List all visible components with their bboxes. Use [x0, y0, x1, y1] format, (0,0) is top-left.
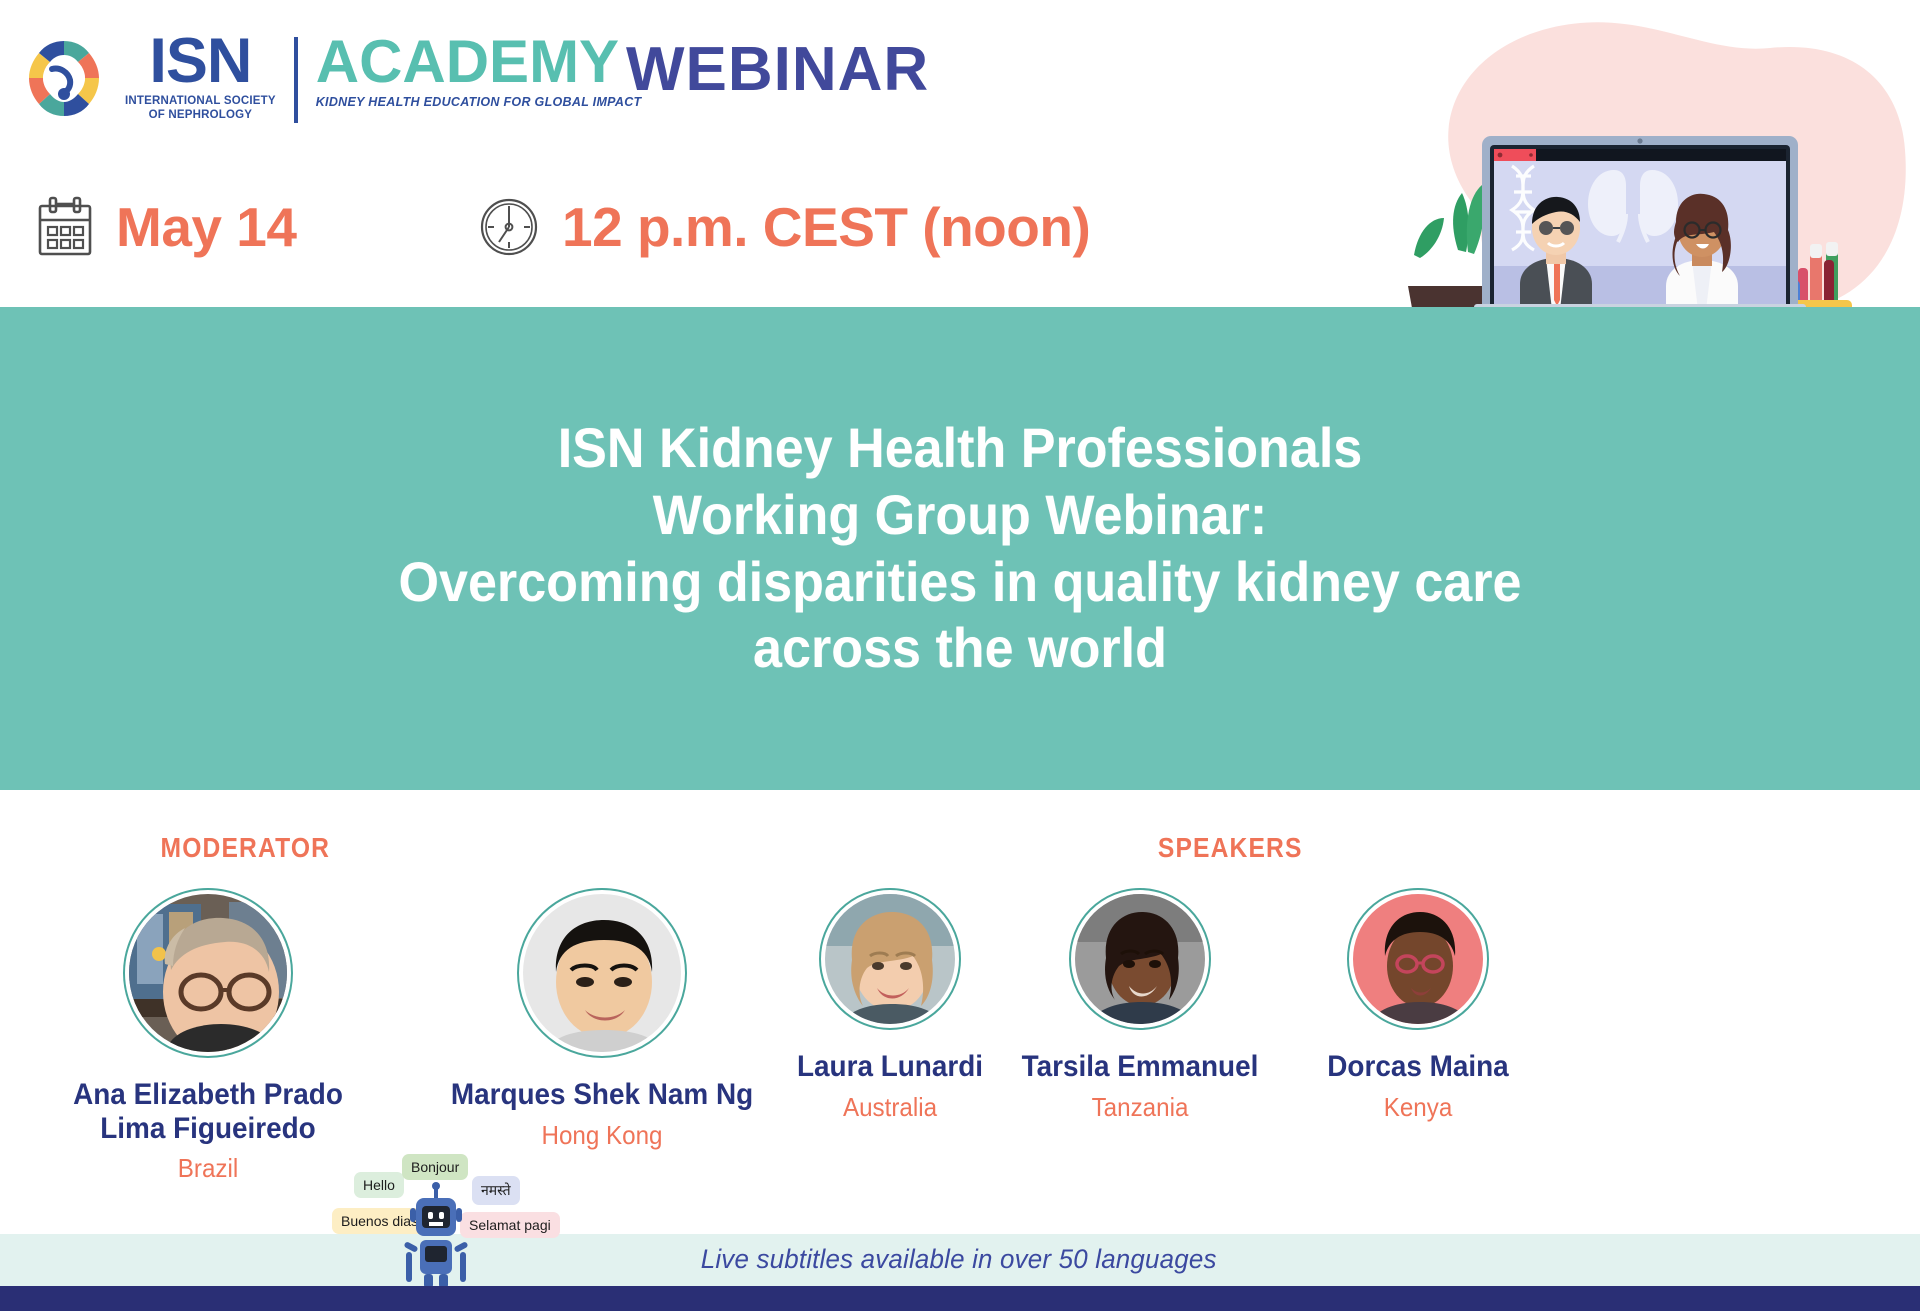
webinar-poster: ISN INTERNATIONAL SOCIETY OF NEPHROLOGY …: [0, 0, 1920, 1311]
isn-circular-logo-icon: [22, 36, 107, 121]
speaker-country: Australia: [751, 1092, 1030, 1123]
logo-divider: [294, 37, 298, 123]
bubble-bonjour: Bonjour: [402, 1154, 468, 1180]
academy-wordmark: ACADEMY: [316, 33, 642, 90]
event-date: May 14: [116, 195, 296, 259]
speaker-name: Laura Lunardi: [751, 1050, 1030, 1084]
speaker-country: Hong Kong: [444, 1120, 760, 1151]
isn-subtitle: INTERNATIONAL SOCIETY OF NEPHROLOGY: [125, 95, 276, 123]
event-time: 12 p.m. CEST (noon): [562, 195, 1090, 259]
speaker-name: Dorcas Maina: [1279, 1050, 1558, 1084]
moderator-name: Ana Elizabeth Prado Lima Figueiredo: [50, 1078, 366, 1145]
title-line-1: ISN Kidney Health Professionals: [170, 415, 1751, 482]
speaker-card: Marques Shek Nam Ng Hong Kong: [432, 888, 772, 1151]
translation-robot-group: Buenos dias Hello Bonjour नमस्ते Selamat…: [332, 1172, 672, 1290]
title-line-4: across the world: [170, 615, 1751, 682]
moderator-photo: [123, 888, 293, 1058]
isn-wordmark: ISN: [149, 33, 251, 91]
webinar-title: ISN Kidney Health Professionals Working …: [170, 415, 1751, 682]
translation-robot-icon: [396, 1182, 476, 1290]
bubble-namaste: नमस्ते: [472, 1176, 520, 1205]
event-type-heading: WEBINAR: [626, 34, 929, 105]
clock-icon: [478, 196, 540, 258]
academy-tagline: KIDNEY HEALTH EDUCATION FOR GLOBAL IMPAC…: [316, 95, 642, 109]
moderator-label: MODERATOR: [161, 832, 331, 864]
moderator-card: Ana Elizabeth Prado Lima Figueiredo Braz…: [38, 888, 378, 1184]
speaker-name: Tarsila Emmanuel: [1001, 1050, 1280, 1084]
title-line-2: Working Group Webinar:: [170, 482, 1751, 549]
moderator-country: Brazil: [50, 1153, 366, 1184]
event-time-group: 12 p.m. CEST (noon): [478, 195, 1090, 259]
speaker-card: Dorcas Maina Kenya: [1268, 888, 1568, 1123]
laptop: [1462, 136, 1818, 326]
speaker-name: Marques Shek Nam Ng: [444, 1078, 760, 1112]
event-meta-row: May 14 12 p.m. CEST (noon): [0, 195, 1120, 295]
speaker-country: Tanzania: [1001, 1092, 1280, 1123]
title-banner: ISN Kidney Health Professionals Working …: [0, 307, 1920, 790]
speaker-photo-1: [517, 888, 687, 1058]
calendar-icon: [36, 196, 94, 258]
speaker-photo-4: [1347, 888, 1489, 1030]
title-line-3: Overcoming disparities in quality kidney…: [170, 549, 1751, 616]
event-date-group: May 14: [36, 195, 296, 259]
isn-academy-logo: ISN INTERNATIONAL SOCIETY OF NEPHROLOGY …: [22, 33, 641, 123]
speaker-photo-2: [819, 888, 961, 1030]
bottom-navy-strip: [0, 1286, 1920, 1311]
speaker-card: Tarsila Emmanuel Tanzania: [990, 888, 1290, 1123]
speakers-label: SPEAKERS: [1158, 832, 1303, 864]
subtitles-text: Live subtitles available in over 50 lang…: [701, 1244, 1217, 1275]
speaker-country: Kenya: [1279, 1092, 1558, 1123]
speaker-photo-3: [1069, 888, 1211, 1030]
